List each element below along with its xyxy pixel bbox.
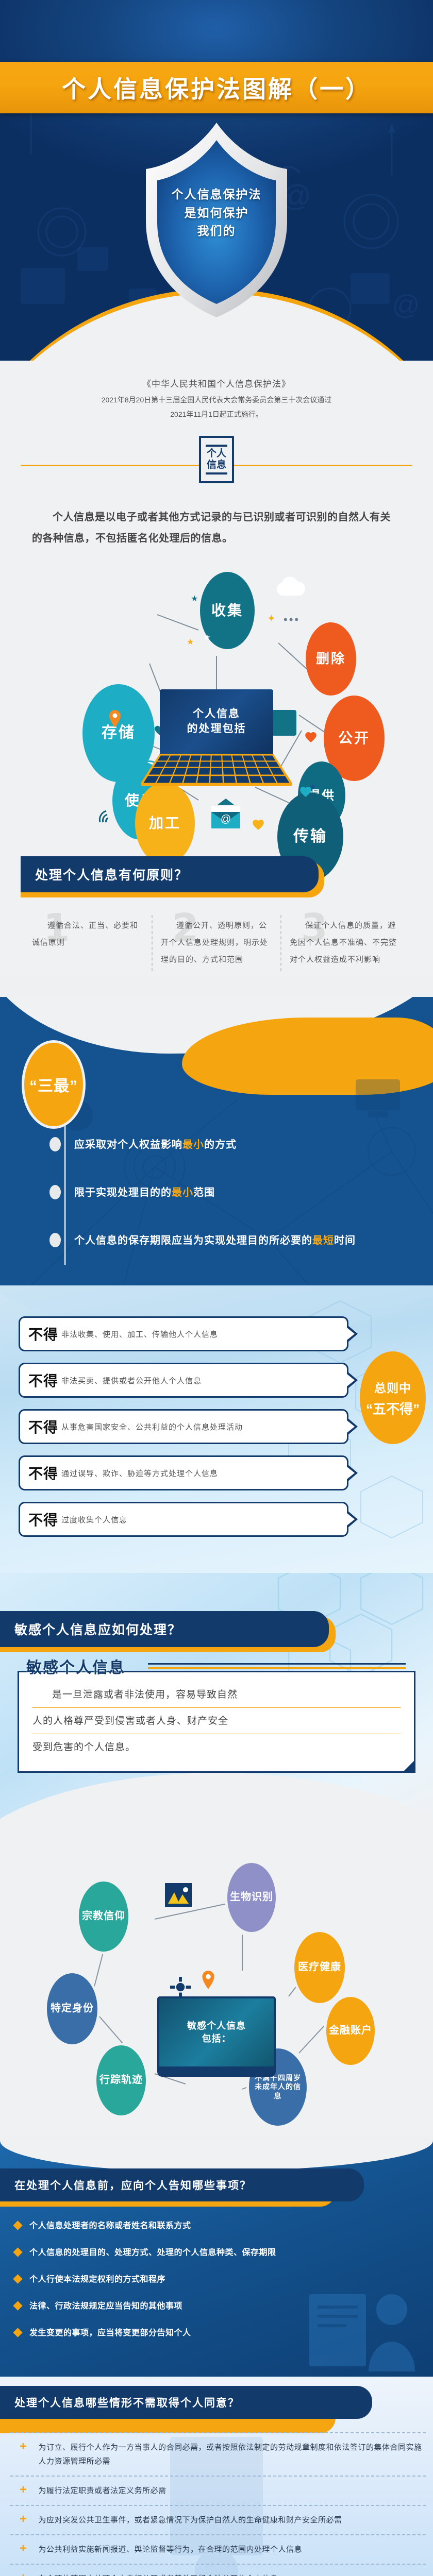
envelope-icon: @ <box>211 799 240 831</box>
shield-graphic: 个人信息保护法 是如何保护 我们的 <box>137 120 296 320</box>
star-icon-3: ★ <box>187 637 194 647</box>
prohibition-text-5: 过度收集个人信息 <box>61 1514 127 1525</box>
sensitive-bubble-religion: 宗教信仰 <box>76 1879 131 1954</box>
notify-text-1: 个人信息处理者的名称或者姓名和联系方式 <box>29 2219 191 2233</box>
sensitive-definition-card: 敏感个人信息 是一旦泄露或者非法使用，容易导致自然 人的人格尊严受到侵害或者人身… <box>18 1671 415 1773</box>
notify-text-2: 个人信息的处理目的、处理方式、处理的个人信息种类、保存期限 <box>29 2246 276 2260</box>
minimum-pre-3: 个人信息的保存期限应当为实现处理目的所必要的 <box>74 1235 312 1246</box>
notify-top-curve <box>0 2141 433 2172</box>
plus-bullet-icon-4: + <box>20 2541 27 2556</box>
prohibition-text-4: 通过误导、欺诈、胁迫等方式处理个人信息 <box>61 1468 218 1479</box>
heart-icon-3 <box>252 818 265 833</box>
plus-bullet-icon-5: + <box>20 2571 27 2576</box>
star-icon-1: ★ <box>191 594 198 604</box>
sensitive-heading: 敏感个人信息应如何处理？ <box>0 1611 329 1647</box>
sensitive-bubble-financial: 金融账户 <box>324 1994 377 2067</box>
principles-heading: 处理个人信息有何原则？ <box>21 856 319 892</box>
consent-item-4: + 为公共利益实施新闻报道、舆论监督等行为，在合理的范围内处理个人信息 <box>10 2535 426 2565</box>
minimum-pre-1: 应采取对个人权益影响 <box>74 1139 182 1150</box>
sensitive-label-identity: 特定身份 <box>51 2002 94 2015</box>
prohibition-text-2: 非法买卖、提供或者公开他人个人信息 <box>61 1375 202 1386</box>
law-meta-section: 《中华人民共和国个人信息保护法》 2021年8月20日第十三届全国人民代表大会常… <box>0 361 433 976</box>
notify-item-2: 个人信息的处理目的、处理方式、处理的个人信息种类、保存期限 <box>14 2246 418 2260</box>
notify-heading-wrap: 在处理个人信息前，应向个人告知哪些事项？ <box>0 2168 433 2201</box>
doc-icon-label-2: 信息 <box>207 460 226 471</box>
consent-text-1: 为订立、履行个人作为一方当事人的合同必需，或者按照依法制定的劳动规章制度和依法签… <box>39 2441 423 2468</box>
consent-text-3: 为应对突发公共卫生事件，或者紧急情况下为保护自然人的生命健康和财产安全所必需 <box>39 2513 342 2527</box>
shield-line-3: 我们的 <box>137 222 296 241</box>
principles-heading-wrap: 处理个人信息有何原则？ <box>21 856 412 892</box>
cloud-icon <box>274 575 308 599</box>
sensitive-label-trajectory: 行踪轨迹 <box>99 2074 143 2087</box>
sensitive-laptop-screen: 敏感个人信息 包括： <box>157 1996 276 2069</box>
star-icon-2: ★ <box>204 633 210 642</box>
laptop-screen: 个人信息 的处理包括 <box>160 689 273 754</box>
hero-banner: @ @ 个人信息保护法图解（一） 个人信息保 <box>0 0 433 361</box>
notify-item-4: 法律、行政法规规定应当告知的其他事项 <box>14 2299 418 2314</box>
prohibition-text-1: 非法收集、使用、加工、传输他人个人信息 <box>61 1329 218 1340</box>
sensitive-hero: 敏感个人信息应如何处理？ 敏感个人信息 是一旦泄露或者非法使用，容易导致自然 人… <box>0 1573 433 1835</box>
principle-text-2: 遵循公开、透明原则，公开个人信息处理规则，明示处理的目的、方式和范围 <box>161 917 272 968</box>
document-icon: 个人 信息 <box>199 436 234 483</box>
minimum-item-2: 限于实现处理目的的最小范围 <box>49 1184 412 1202</box>
main-title-band: 个人信息保护法图解（一） <box>0 62 433 113</box>
principle-column-3: 3 保证个人信息的质量，避免因个人信息不准确、不完整对个人权益造成不利影响 <box>280 915 409 971</box>
law-meta: 《中华人民共和国个人信息保护法》 2021年8月20日第十三届全国人民代表大会常… <box>21 361 412 427</box>
wifi-icon <box>98 808 115 828</box>
principle-column-1: 1 遵循合法、正当、必要和诚信原则 <box>24 915 152 971</box>
doc-icon-top-bar <box>206 445 227 447</box>
prohibition-prefix-1: 不得 <box>28 1324 58 1344</box>
laptop-line-2: 的处理包括 <box>187 722 246 736</box>
notify-section: 在处理个人信息前，应向个人告知哪些事项？ 个人信息处理者的名称或者姓名和联系方式… <box>0 2141 433 2377</box>
minimum-highlight-2: 最小 <box>172 1187 193 1198</box>
minimum-highlight-3: 最短 <box>312 1235 334 1246</box>
shield-text: 个人信息保护法 是如何保护 我们的 <box>137 185 296 241</box>
minimum-highlight-1: 最小 <box>182 1139 204 1150</box>
prohibition-item-1: 不得 非法收集、使用、加工、传输他人个人信息 <box>19 1316 348 1351</box>
sensitive-diagram: 宗教信仰 生物识别 医疗健康 特定身份 金融账户 行踪轨迹 不满十四周岁未成年人… <box>0 1842 433 2130</box>
consent-exemption-section: 处理个人信息哪些情形不需取得个人同意？ + 为订立、履行个人作为一方当事人的合同… <box>0 2377 433 2576</box>
prohibition-item-2: 不得 非法买卖、提供或者公开他人个人信息 <box>19 1363 348 1398</box>
five-prohibitions-badge: 总则中 “五不得” <box>360 1351 426 1444</box>
sensitive-label-minor: 不满十四周岁未成年人的信息 <box>254 2074 302 2101</box>
minimum-text-2: 限于实现处理目的的最小范围 <box>74 1184 215 1202</box>
prohibition-prefix-3: 不得 <box>28 1416 58 1437</box>
sensitive-laptop-base <box>157 2069 276 2077</box>
bubble-public-label: 公开 <box>338 730 370 747</box>
ellipsis-icon: ••• <box>284 613 300 626</box>
shield-line-1: 个人信息保护法 <box>137 185 296 204</box>
diamond-bullet-icon-5 <box>13 2328 22 2337</box>
page-title: 个人信息保护法图解（一） <box>62 71 371 105</box>
consent-item-1: + 为订立、履行个人作为一方当事人的合同必需，或者按照依法制定的劳动规章制度和依… <box>10 2432 426 2477</box>
notify-text-4: 法律、行政法规规定应当告知的其他事项 <box>29 2299 182 2314</box>
sensitive-label-religion: 宗教信仰 <box>82 1910 125 1923</box>
consent-item-5: + 在合理的范围内处理个人自行公开或者其他已经合法公开的个人信息 <box>10 2565 426 2576</box>
laptop-center-node: 个人信息 的处理包括 <box>160 689 273 781</box>
plus-bullet-icon-3: + <box>20 2512 27 2527</box>
three-minimums-badge: “三最” <box>22 1040 86 1129</box>
bubble-process: 加工 <box>135 782 195 865</box>
svg-text:@: @ <box>392 290 420 320</box>
sensitive-label-medical: 医疗健康 <box>298 1961 341 1974</box>
bubble-transmit-label: 传输 <box>293 828 327 846</box>
minimum-text-1: 应采取对个人权益影响最小的方式 <box>74 1136 237 1154</box>
sensitive-heading-wrap: 敏感个人信息应如何处理？ <box>0 1611 433 1647</box>
five-prohibitions-section: 总则中 “五不得” 不得 非法收集、使用、加工、传输他人个人信息 不得 非法买卖… <box>0 1285 433 1573</box>
sensitive-card-line-2: 人的人格尊严受到侵害或者人身、财产安全 <box>32 1708 401 1734</box>
laptop-line-1: 个人信息 <box>193 707 240 721</box>
consent-heading-wrap: 处理个人信息哪些情形不需取得个人同意？ <box>0 2377 433 2419</box>
consent-heading: 处理个人信息哪些情形不需取得个人同意？ <box>0 2386 372 2419</box>
timeline-dot-1 <box>49 1137 61 1151</box>
minimum-text-3: 个人信息的保存期限应当为实现处理目的所必要的最短时间 <box>74 1232 356 1250</box>
personal-info-divider: 个人 信息 <box>21 436 412 494</box>
svg-text:@: @ <box>221 814 231 825</box>
infographic-page: @ @ 个人信息保护法图解（一） 个人信息保 <box>0 0 433 2576</box>
timeline-dot-2 <box>49 1185 61 1199</box>
prohibition-item-3: 不得 从事危害国家安全、公共利益的个人信息处理活动 <box>19 1409 348 1444</box>
minimum-pre-2: 限于实现处理目的的 <box>74 1187 172 1198</box>
prohibition-item-4: 不得 通过误导、欺诈、胁迫等方式处理个人信息 <box>19 1455 348 1490</box>
doc-icon-bottom-bar <box>206 472 227 474</box>
notify-items-list: 个人信息处理者的名称或者姓名和联系方式 个人信息的处理目的、处理方式、处理的个人… <box>0 2201 433 2341</box>
sensitive-bubble-biometric: 生物识别 <box>225 1860 278 1935</box>
sensitive-info-section: 敏感个人信息应如何处理？ 敏感个人信息 是一旦泄露或者非法使用，容易导致自然 人… <box>0 1573 433 2136</box>
notify-text-5: 发生变更的事项，应当将变更部分告知个人 <box>29 2326 191 2341</box>
doc-icon-label-1: 个人 <box>207 448 226 460</box>
minimum-item-1: 应采取对个人权益影响最小的方式 <box>49 1136 412 1154</box>
principle-column-2: 2 遵循公开、透明原则，公开个人信息处理规则，明示处理的目的、方式和范围 <box>152 915 280 971</box>
sparkle-icon-1: ✦ <box>267 612 276 625</box>
bubble-delete: 删除 <box>306 622 356 696</box>
diamond-bullet-icon-4 <box>13 2301 22 2310</box>
sensitive-center-line-2: 包括： <box>202 2032 231 2045</box>
plus-bullet-icon-1: + <box>20 2439 27 2454</box>
heart-icon-2 <box>304 731 318 745</box>
consent-items-list: + 为订立、履行个人作为一方当事人的合同必需，或者按照依法制定的劳动规章制度和依… <box>0 2419 433 2576</box>
notify-heading: 在处理个人信息前，应向个人告知哪些事项？ <box>0 2168 364 2201</box>
prohibition-item-5: 不得 过度收集个人信息 <box>19 1502 348 1537</box>
shield-line-2: 是如何保护 <box>137 204 296 223</box>
minimum-post-3: 时间 <box>334 1235 356 1246</box>
diamond-bullet-icon-2 <box>13 2247 22 2257</box>
sensitive-card-line-1: 是一旦泄露或者非法使用，容易导致自然 <box>32 1682 401 1708</box>
bubble-collect-label: 收集 <box>211 602 243 619</box>
law-name: 《中华人民共和国个人信息保护法》 <box>31 376 402 393</box>
prohibition-prefix-4: 不得 <box>28 1463 58 1483</box>
consent-item-2: + 为履行法定职责或者法定义务所必需 <box>10 2477 426 2506</box>
consent-text-2: 为履行法定职责或者法定义务所必需 <box>39 2484 166 2498</box>
minimum-item-3: 个人信息的保存期限应当为实现处理目的所必要的最短时间 <box>49 1232 412 1250</box>
diamond-bullet-icon-1 <box>13 2221 22 2230</box>
prohibition-prefix-2: 不得 <box>28 1370 58 1391</box>
principle-text-3: 保证个人信息的质量，避免因个人信息不准确、不完整对个人权益造成不利影响 <box>290 917 401 968</box>
plus-bullet-icon-2: + <box>20 2483 27 2498</box>
badge-line-2: “五不得” <box>366 1399 420 1418</box>
notify-item-3: 个人行使本法规定权利的方式和程序 <box>14 2273 418 2287</box>
sensitive-bubble-trajectory: 行踪轨迹 <box>94 2043 148 2118</box>
consent-text-5: 在合理的范围内处理个人自行公开或者其他已经合法公开的个人信息 <box>39 2572 278 2576</box>
notify-item-1: 个人信息处理者的名称或者姓名和联系方式 <box>14 2219 418 2233</box>
sensitive-card-line-3: 受到危害的个人信息。 <box>32 1734 401 1760</box>
minimum-post-1: 的方式 <box>204 1139 237 1150</box>
notify-text-3: 个人行使本法规定权利的方式和程序 <box>29 2273 165 2287</box>
photo-gallery-icon <box>165 1883 192 1909</box>
bubble-process-label: 加工 <box>149 815 181 832</box>
three-minimums-section: “三最” 应采取对个人权益影响最小的方式 限于实现处理目的的最小范围 个人信息的… <box>0 997 433 1285</box>
sensitive-laptop-center: 敏感个人信息 包括： <box>157 1996 276 2077</box>
sensitive-card-rule-dark <box>148 1663 406 1665</box>
principle-text-1: 遵循合法、正当、必要和诚信原则 <box>32 917 143 951</box>
sensitive-label-financial: 金融账户 <box>329 2024 372 2037</box>
sensitive-center-line-1: 敏感个人信息 <box>187 2020 246 2032</box>
law-passed-date: 2021年8月20日第十三届全国人民代表大会常务委员会第三十次会议通过 <box>31 393 402 407</box>
bubble-delete-label: 删除 <box>316 651 346 667</box>
location-pin-icon <box>108 710 122 732</box>
star-icon-4: ★ <box>309 782 316 791</box>
timeline-dot-3 <box>49 1233 61 1247</box>
minimum-post-2: 范围 <box>193 1187 215 1198</box>
prohibition-text-3: 从事危害国家安全、公共利益的个人信息处理活动 <box>61 1421 243 1432</box>
consent-item-3: + 为应对突发公共卫生事件，或者紧急情况下为保护自然人的生命健康和财产安全所必需 <box>10 2506 426 2535</box>
prohibition-prefix-5: 不得 <box>28 1509 58 1530</box>
sensitive-card-title: 敏感个人信息 <box>26 1655 125 1677</box>
card-corner-fold <box>404 1761 414 1771</box>
law-effective-date: 2021年11月1日起正式施行。 <box>31 407 402 421</box>
location-pin-icon-2 <box>201 1971 215 1994</box>
sensitive-label-biometric: 生物识别 <box>230 1891 273 1904</box>
personal-info-definition: 个人信息是以电子或者其他方式记录的与已识别或者可识别的自然人有关的各种信息，不包… <box>21 494 412 549</box>
three-minimums-list: 应采取对个人权益影响最小的方式 限于实现处理目的的最小范围 个人信息的保存期限应… <box>49 1136 412 1280</box>
sensitive-card-rule-orange <box>148 1667 406 1669</box>
notify-item-5: 发生变更的事项，应当将变更部分告知个人 <box>14 2326 418 2341</box>
consent-text-4: 为公共利益实施新闻报道、舆论监督等行为，在合理的范围内处理个人信息 <box>39 2543 303 2556</box>
principles-columns: 1 遵循合法、正当、必要和诚信原则 2 遵循公开、透明原则，公开个人信息处理规则… <box>21 915 412 976</box>
diamond-bullet-icon-3 <box>13 2274 22 2283</box>
sensitive-bubble-identity: 特定身份 <box>44 1971 100 2047</box>
sensitive-bubble-medical: 医疗健康 <box>292 1929 347 2006</box>
processing-diagram: 收集 删除 存储 公开 使用 提供 加工 传输 <box>21 561 412 839</box>
badge-line-1: 总则中 <box>374 1378 411 1396</box>
sensitive-bottom-curve <box>0 1773 433 1835</box>
